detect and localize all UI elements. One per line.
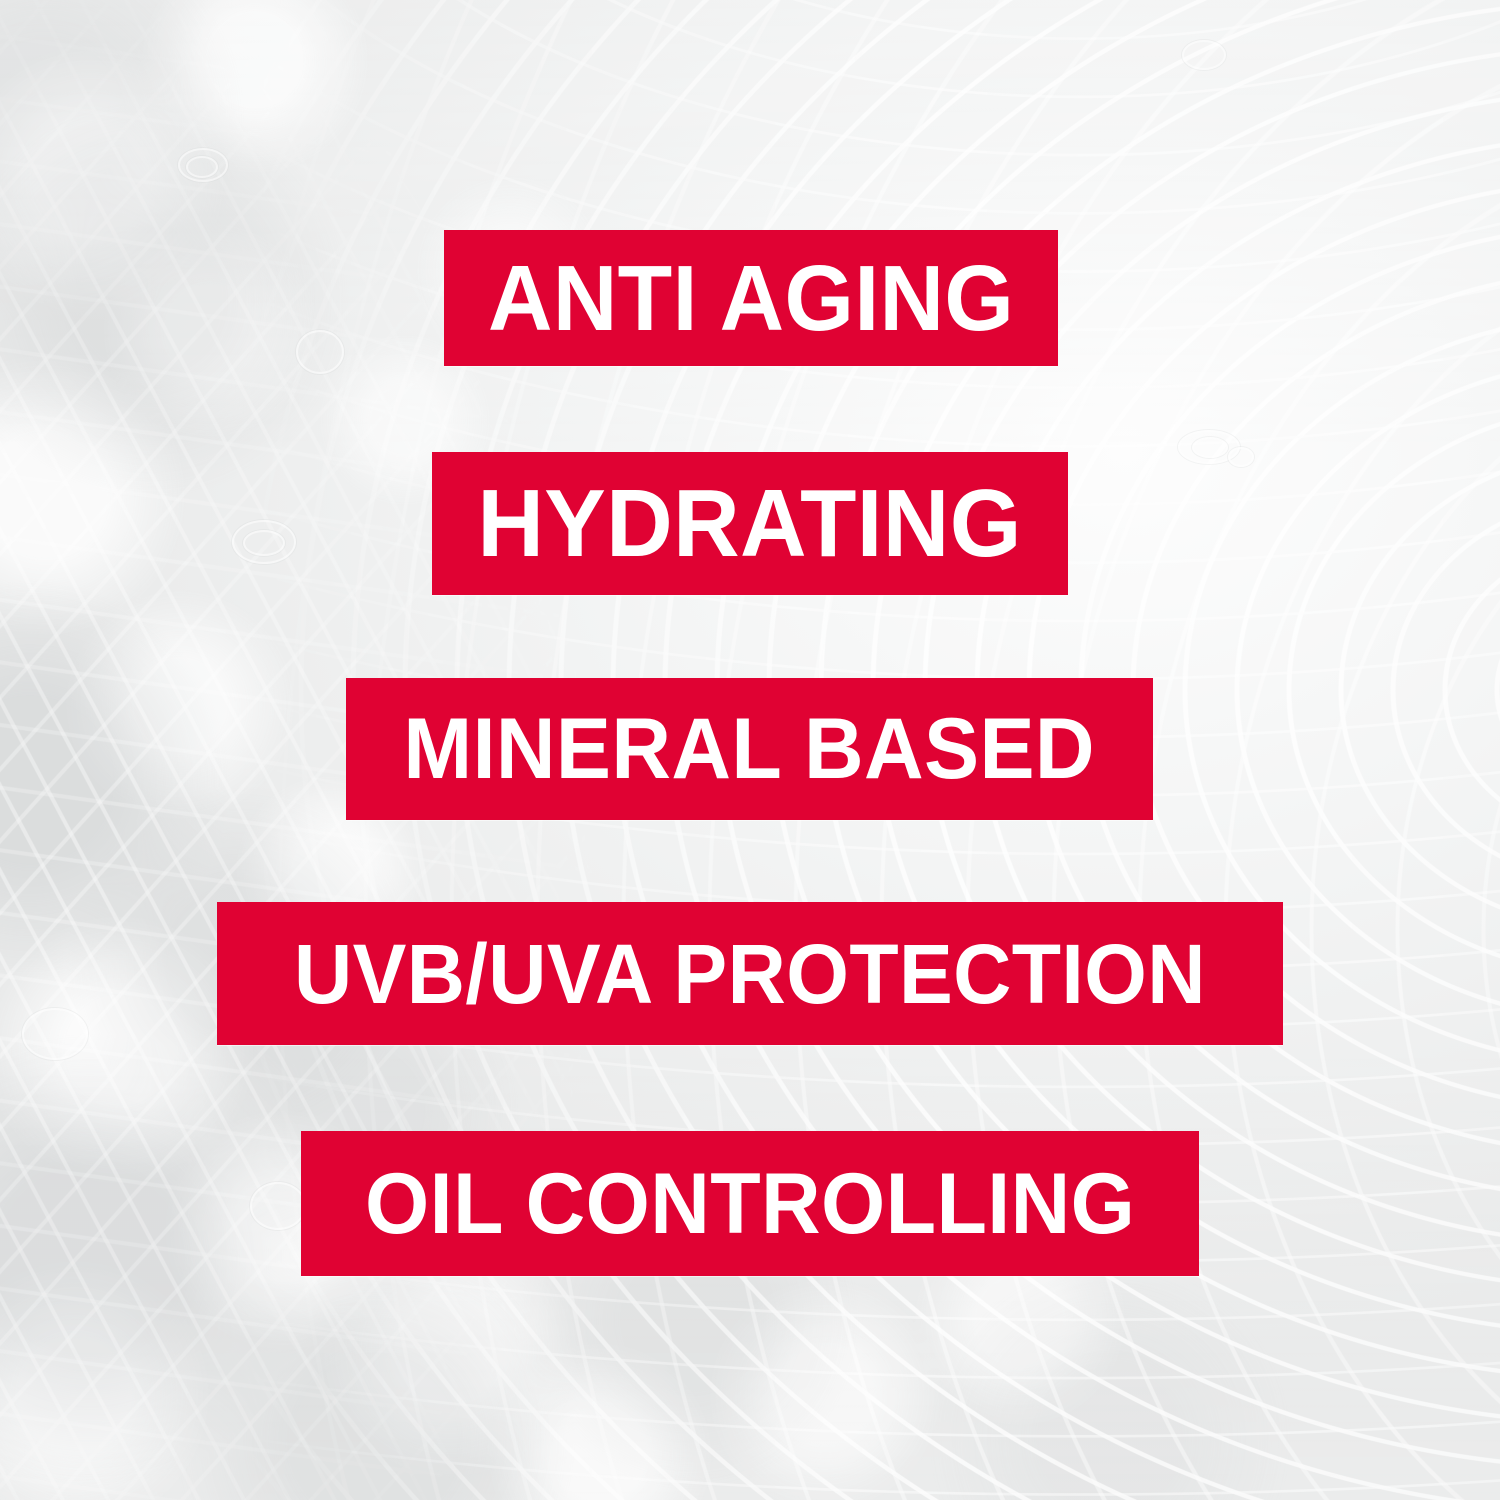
product-benefits-graphic: ANTI AGING HYDRATING MINERAL BASED UVB/U… — [0, 0, 1500, 1500]
benefit-label: ANTI AGING — [488, 252, 1014, 345]
droplet-ring-icon — [186, 156, 218, 178]
droplet-ring-icon — [296, 330, 344, 374]
droplet-ring-icon — [243, 530, 285, 556]
droplet-ring-icon — [250, 1182, 306, 1230]
droplet-ring-icon — [1178, 430, 1240, 464]
benefit-label: HYDRATING — [478, 476, 1022, 572]
droplet-ring-icon — [1182, 40, 1226, 70]
benefit-label: UVB/UVA PROTECTION — [294, 932, 1206, 1016]
benefit-label: MINERAL BASED — [404, 706, 1096, 792]
droplet-ring-icon — [178, 148, 228, 182]
droplet-ring-icon — [232, 520, 296, 564]
benefit-banner-hydrating: HYDRATING — [432, 452, 1068, 595]
droplet-ring-icon — [1228, 447, 1254, 467]
droplet-ring-icon — [1192, 437, 1228, 458]
benefit-banner-anti-aging: ANTI AGING — [444, 230, 1058, 366]
benefit-label: OIL CONTROLLING — [365, 1161, 1135, 1247]
benefit-banner-mineral-based: MINERAL BASED — [346, 678, 1153, 820]
benefit-banner-oil-controlling: OIL CONTROLLING — [301, 1131, 1199, 1276]
droplet-ring-icon — [22, 1008, 88, 1060]
benefit-banner-uvb-uva-protection: UVB/UVA PROTECTION — [217, 902, 1283, 1045]
